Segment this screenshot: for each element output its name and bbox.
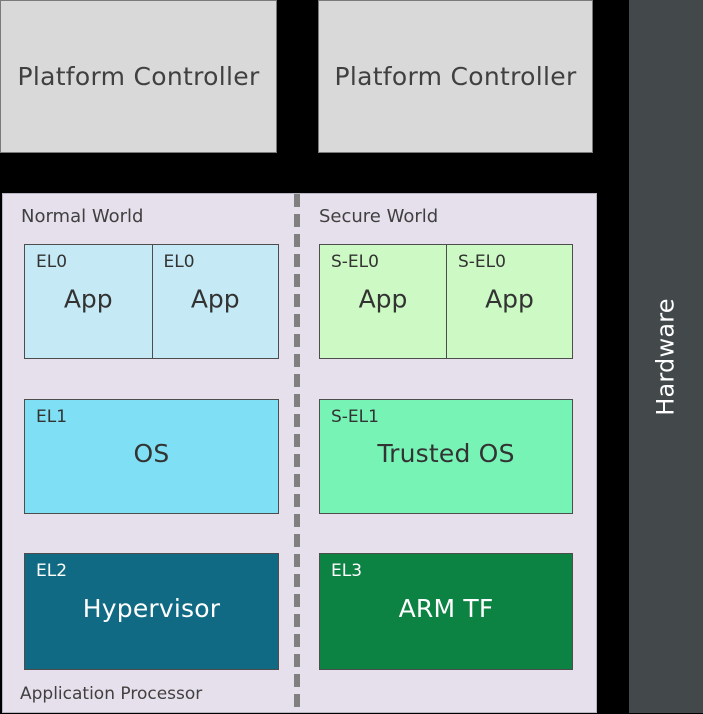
exception-level-tag: EL0 [164, 252, 195, 272]
secure-world-app-row: S-EL0 App S-EL0 App [319, 244, 573, 359]
platform-controller-box-2: Platform Controller [318, 0, 593, 153]
normal-world-app-cell-1[interactable]: EL0 App [25, 245, 152, 358]
world-divider-dashed-line [294, 194, 300, 714]
block-title: App [320, 284, 446, 313]
block-title: Hypervisor [25, 594, 278, 623]
hardware-label: Hardware [652, 298, 680, 415]
block-title: ARM TF [320, 594, 572, 623]
block-title: Trusted OS [320, 439, 572, 468]
secure-world-trusted-os-box[interactable]: S-EL1 Trusted OS [319, 399, 573, 514]
secure-world-app-cell-2[interactable]: S-EL0 App [446, 245, 572, 358]
exception-level-tag: S-EL0 [458, 252, 506, 272]
exception-level-tag: S-EL1 [331, 407, 379, 427]
exception-level-tag: EL3 [331, 561, 362, 581]
normal-world-app-row: EL0 App EL0 App [24, 244, 279, 359]
secure-world-label: Secure World [319, 206, 438, 227]
secure-world-arm-trusted-firmware-box[interactable]: EL3 ARM TF [319, 553, 573, 670]
application-processor-panel: Normal World Secure World EL0 App EL0 Ap… [2, 193, 597, 713]
normal-world-app-cell-2[interactable]: EL0 App [152, 245, 279, 358]
platform-controller-label-1: Platform Controller [17, 62, 259, 91]
block-title: App [447, 284, 572, 313]
block-title: OS [25, 439, 278, 468]
block-title: App [153, 284, 279, 313]
application-processor-label: Application Processor [20, 684, 202, 704]
block-title: App [25, 284, 152, 313]
exception-level-tag: EL1 [36, 407, 67, 427]
normal-world-os-box[interactable]: EL1 OS [24, 399, 279, 514]
platform-controller-box-1: Platform Controller [0, 0, 277, 153]
platform-controller-label-2: Platform Controller [334, 62, 576, 91]
normal-world-label: Normal World [21, 206, 143, 227]
exception-level-tag: S-EL0 [331, 252, 379, 272]
secure-world-app-cell-1[interactable]: S-EL0 App [320, 245, 446, 358]
hardware-panel: Hardware [629, 0, 703, 713]
exception-level-tag: EL2 [36, 561, 67, 581]
exception-level-tag: EL0 [36, 252, 67, 272]
normal-world-hypervisor-box[interactable]: EL2 Hypervisor [24, 553, 279, 670]
